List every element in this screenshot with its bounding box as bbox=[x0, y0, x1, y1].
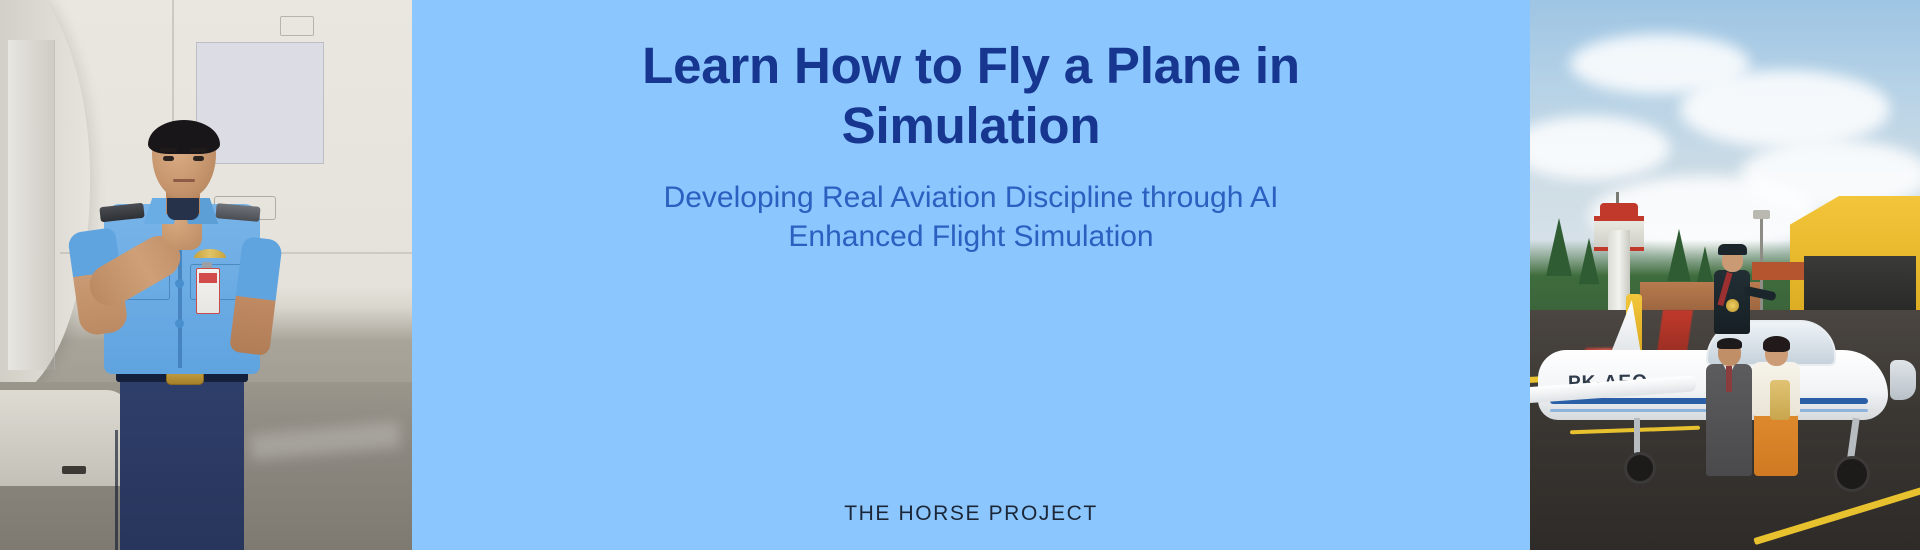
hangar-wall-vent bbox=[280, 16, 314, 36]
cadet-shirt-button bbox=[175, 279, 184, 288]
aircraft-wheel-rear bbox=[1834, 456, 1870, 492]
id-badge bbox=[196, 268, 220, 314]
cadet-eyebrow-right bbox=[190, 148, 207, 152]
cadet-mouth bbox=[173, 179, 195, 182]
cadet-eyebrow-left bbox=[160, 148, 177, 152]
control-tower-roof bbox=[1600, 203, 1638, 217]
gold-shoulder-scarf bbox=[1770, 380, 1790, 420]
officer-medal-icon bbox=[1726, 299, 1739, 312]
officer-peaked-cap bbox=[1718, 244, 1747, 255]
conifer-tree bbox=[1667, 229, 1690, 281]
red-flag-banner bbox=[1657, 310, 1693, 352]
aircraft-wheel-front bbox=[1624, 452, 1656, 484]
fuselage-panel-shape bbox=[8, 40, 55, 370]
cloud-shape bbox=[1680, 70, 1890, 148]
page-subtitle: Developing Real Aviation Discipline thro… bbox=[661, 156, 1281, 256]
left-photo-panel bbox=[0, 0, 412, 550]
cadet-undershirt bbox=[167, 198, 199, 220]
aircraft-nose-propeller bbox=[1890, 360, 1916, 400]
promotional-banner: Learn How to Fly a Plane in Simulation D… bbox=[0, 0, 1920, 550]
cadet-eye-right bbox=[193, 156, 204, 161]
necktie bbox=[1726, 366, 1732, 392]
cadet-shirt-button bbox=[175, 319, 184, 328]
man-in-suit-figure bbox=[1706, 328, 1752, 476]
cadet-trousers bbox=[120, 374, 244, 550]
woman-in-kebaya-figure bbox=[1752, 334, 1800, 476]
cadet-figure bbox=[54, 130, 304, 550]
man-hair bbox=[1717, 338, 1742, 349]
right-photo-panel: PK-AEO bbox=[1530, 0, 1920, 550]
woman-hair bbox=[1763, 336, 1790, 352]
center-text-panel: Learn How to Fly a Plane in Simulation D… bbox=[412, 0, 1530, 550]
cadet-trouser-seam bbox=[115, 430, 118, 550]
brand-footer-label: THE HORSE PROJECT bbox=[412, 502, 1530, 526]
page-title: Learn How to Fly a Plane in Simulation bbox=[621, 0, 1321, 156]
officer-on-wing-figure bbox=[1706, 240, 1758, 334]
cadet-eye-left bbox=[163, 156, 174, 161]
conifer-tree bbox=[1546, 218, 1572, 276]
